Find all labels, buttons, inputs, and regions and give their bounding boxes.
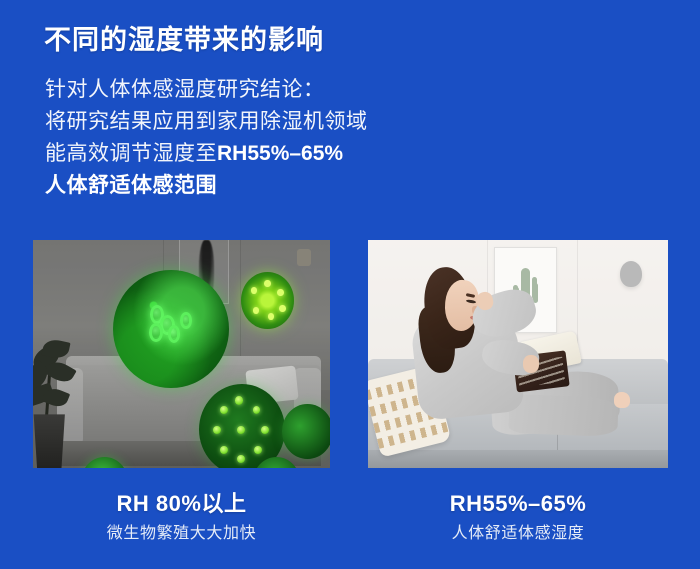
microbe-knob	[237, 455, 245, 463]
humidity-range-highlight: RH55%–65%	[217, 142, 343, 165]
body-line-3: 能高效调节湿度至RH55%–65%	[45, 138, 505, 170]
microbe-spike	[251, 287, 257, 294]
page-title: 不同的湿度带来的影响	[44, 18, 324, 57]
microbe-spike	[268, 313, 274, 320]
microbe-knob	[237, 426, 245, 434]
wall-fixture	[297, 249, 311, 266]
caption-right: RH55%–65% 人体舒适体感湿度	[368, 490, 668, 547]
photo-high-humidity	[33, 240, 330, 468]
body-copy: 针对人体体感湿度研究结论： 将研究结果应用到家用除湿机领域 能高效调节湿度至RH…	[45, 74, 505, 202]
microbe-cell	[168, 325, 181, 343]
dark-room-scene	[33, 240, 330, 468]
caption-left-title: RH 80%以上	[33, 490, 330, 518]
microbe-spike	[279, 305, 285, 312]
woman-reading	[404, 263, 632, 459]
microbe-spike	[253, 307, 259, 314]
caption-left-subtitle: 微生物繁殖大大加快	[33, 521, 330, 547]
microbe-knob	[261, 426, 269, 434]
microbe-knob	[254, 446, 262, 454]
photo-comfort-humidity	[368, 240, 668, 468]
microbe-spike	[264, 280, 270, 287]
microbe-cell	[180, 312, 192, 329]
body-line-3-prefix: 能高效调节湿度至	[45, 142, 217, 165]
caption-right-title: RH55%–65%	[368, 490, 668, 518]
hand-on-book	[523, 355, 539, 373]
humidity-infographic-poster: 不同的湿度带来的影响 针对人体体感湿度研究结论： 将研究结果应用到家用除湿机领域…	[0, 0, 700, 569]
body-line-4: 人体舒适体感范围	[45, 170, 505, 202]
body-line-2: 将研究结果应用到家用除湿机领域	[45, 106, 505, 138]
microbe-side-right	[282, 404, 330, 459]
microbe-knob	[235, 396, 243, 404]
microbe-large	[113, 270, 229, 389]
plant-pot	[33, 414, 66, 468]
photo-row	[0, 240, 700, 468]
microbe-knob	[213, 426, 221, 434]
caption-right-subtitle: 人体舒适体感湿度	[368, 521, 668, 547]
leg-second	[508, 394, 619, 437]
potted-plant	[33, 340, 92, 468]
microbe-spike	[277, 289, 283, 296]
foot	[614, 392, 630, 408]
microbe-top	[241, 272, 294, 329]
microbe-knob	[253, 406, 261, 414]
body-line-1: 针对人体体感湿度研究结论：	[45, 74, 505, 106]
microbe-knob	[220, 406, 228, 414]
microbe-cell	[149, 323, 163, 342]
caption-left: RH 80%以上 微生物繁殖大大加快	[33, 490, 330, 547]
microbe-knob	[220, 446, 228, 454]
light-room-scene	[368, 240, 668, 468]
